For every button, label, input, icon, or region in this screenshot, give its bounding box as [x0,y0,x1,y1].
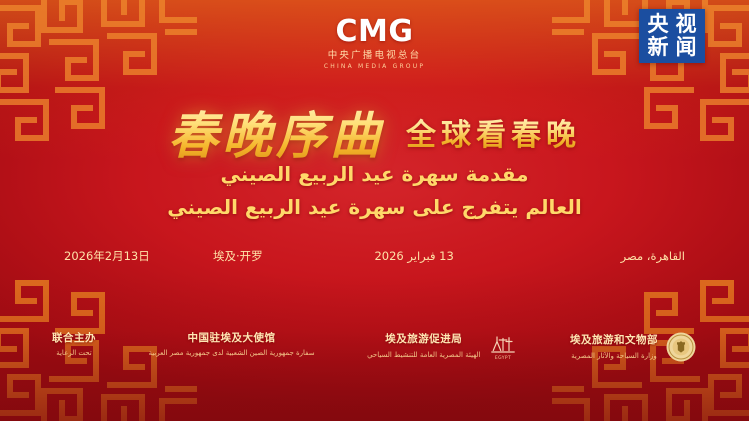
sponsor-item-egypt-ministry: 埃及旅游和文物部 وزارة السياحة والآثار المصرية [570,331,697,363]
cmg-chinese-name: 中央广播电视总台 [324,51,425,61]
main-title: 春晚序曲 [168,96,384,168]
badge-char-1: 央 [648,13,669,35]
event-place-arabic: القاهرة، مصر [536,249,685,263]
egypt-tourism-logo-icon: EGYPT [488,331,518,361]
badge-char-4: 闻 [676,36,697,58]
title-row: 春晚序曲 全球看春晚 [0,96,749,168]
svg-text:EGYPT: EGYPT [494,355,510,361]
cmg-logo: CMG 中央广播电视总台 CHINA MEDIA GROUP [324,17,425,70]
badge-char-3: 新 [648,36,669,58]
event-date-arabic: 13 فبراير 2026 [374,249,535,263]
cmg-wordmark: CMG [324,17,425,47]
event-date-chinese: 2026年2月13日 [64,248,213,264]
sponsor-item-china-embassy: 中国驻埃及大使馆 سفارة جمهورية الصين الشعبية لدى… [148,331,314,358]
arabic-title-line-2: العالم يتفرج على سهرة عيد الربيع الصيني [0,195,749,219]
cmg-english-name: CHINA MEDIA GROUP [324,64,425,70]
event-place-chinese: 埃及·开罗 [213,248,374,264]
sponsor-label-ar: وزارة السياحة والآثار المصرية [570,351,658,361]
sponsor-label-cn: 埃及旅游和文物部 [570,333,658,348]
arabic-title-line-1: مقدمة سهرة عيد الربيع الصيني [0,162,749,186]
sponsor-label-ar: تحت الرعاية [52,348,96,358]
egypt-ministry-seal-icon [665,331,697,363]
sub-title: 全球看春晚 [406,110,581,154]
sponsor-item-egypt-tourism-authority: 埃及旅游促进局 الهيئة المصرية العامة للتنشيط ال… [367,331,517,361]
sponsor-label-ar: الهيئة المصرية العامة للتنشيط السياحي [367,350,480,360]
sponsor-label-ar: سفارة جمهورية الصين الشعبية لدى جمهورية … [148,348,314,358]
sponsor-label-cn: 埃及旅游促进局 [367,332,480,347]
badge-char-2: 视 [676,13,697,35]
sponsor-item-presented-by: 联合主办 تحت الرعاية [52,331,96,358]
sponsor-label-cn: 中国驻埃及大使馆 [148,331,314,346]
poster-canvas: CMG 中央广播电视总台 CHINA MEDIA GROUP 央 视 新 闻 春… [0,0,749,421]
sponsor-label-cn: 联合主办 [52,331,96,346]
cctv-news-badge: 央 视 新 闻 [639,9,705,63]
event-meta-row: 2026年2月13日 埃及·开罗 13 فبراير 2026 القاهرة،… [0,248,749,264]
sponsor-row: 联合主办 تحت الرعاية 中国驻埃及大使馆 سفارة جمهورية … [0,331,749,363]
